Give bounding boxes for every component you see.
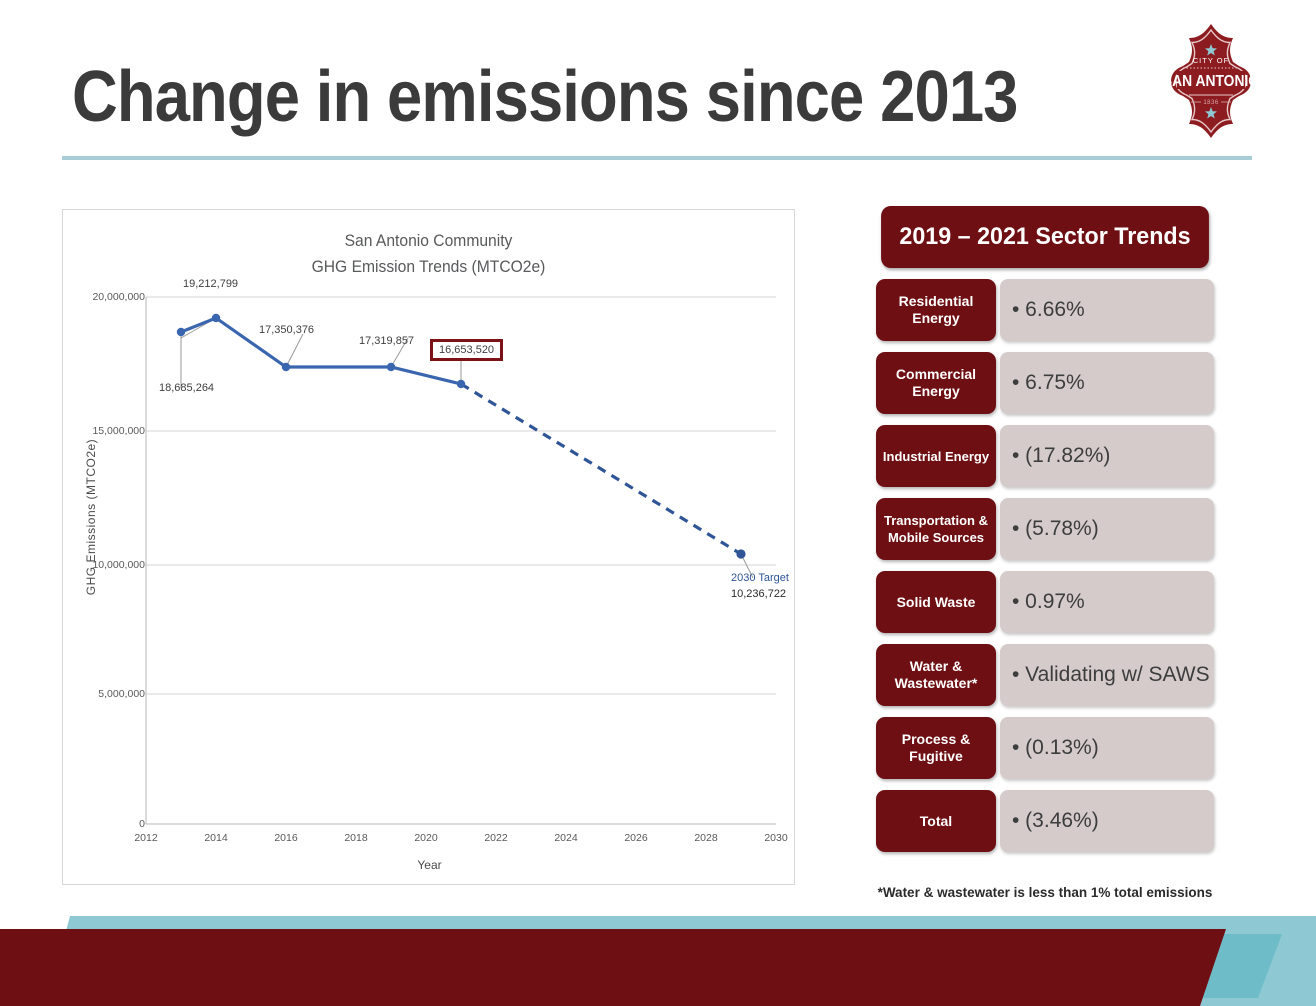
table-row: Process &Fugitive • (0.13%) (876, 717, 1214, 779)
title-divider (62, 156, 1252, 160)
sector-value-residential-energy: • 6.66% (1000, 279, 1214, 341)
label-line1: Water & (910, 658, 962, 674)
chart-canvas (63, 210, 796, 886)
highlight-callout-2021: 16,653,520 (430, 339, 503, 361)
footer-svg (0, 896, 1316, 1006)
data-point-2013 (177, 328, 185, 336)
sector-label-residential-energy: ResidentialEnergy (876, 279, 996, 341)
sector-value-industrial-energy: • (17.82%) (1000, 425, 1214, 487)
chart-plot-area: GHG Emissions (MTCO2e) Year 20,000,000 1… (63, 210, 796, 886)
leader-2016 (286, 334, 303, 367)
table-row: Transportation &Mobile Sources • (5.78%) (876, 498, 1214, 560)
data-label-2014: 19,212,799 (183, 278, 238, 290)
sector-label-total: Total (876, 790, 996, 852)
sector-label-industrial-energy: Industrial Energy (876, 425, 996, 487)
data-point-2014 (212, 314, 220, 322)
sector-value-total: • (3.46%) (1000, 790, 1214, 852)
sector-value-solid-waste: • 0.97% (1000, 571, 1214, 633)
sector-trends-heading: 2019 – 2021 Sector Trends (881, 206, 1209, 268)
data-point-2016 (282, 363, 290, 371)
label-line2: Mobile Sources (888, 530, 984, 545)
table-row: Water &Wastewater* • Validating w/ SAWS (876, 644, 1214, 706)
sector-label-process-fugitive: Process &Fugitive (876, 717, 996, 779)
series-historical (181, 318, 461, 384)
table-row: Industrial Energy • (17.82%) (876, 425, 1214, 487)
footer-decoration (0, 896, 1316, 1006)
label-line2: Fugitive (909, 748, 963, 764)
label-line1: Transportation & (884, 513, 988, 528)
sector-label-transportation-mobile-sources: Transportation &Mobile Sources (876, 498, 996, 560)
data-point-2019 (387, 363, 395, 371)
page-title: Change in emissions since 2013 (72, 56, 1018, 138)
table-row: ResidentialEnergy • 6.66% (876, 279, 1214, 341)
sector-label-solid-waste: Solid Waste (876, 571, 996, 633)
data-label-2016: 17,350,376 (259, 324, 314, 336)
footer-red-bar (0, 929, 1226, 1006)
sector-value-transportation-mobile-sources: • (5.78%) (1000, 498, 1214, 560)
sector-value-process-fugitive: • (0.13%) (1000, 717, 1214, 779)
series-projection (461, 384, 741, 554)
table-row: CommercialEnergy • 6.75% (876, 352, 1214, 414)
sector-value-water-wastewater: • Validating w/ SAWS (1000, 644, 1214, 706)
sector-trends-table: 2019 – 2021 Sector Trends ResidentialEne… (876, 206, 1214, 852)
target-value-2030: 10,236,722 (731, 588, 786, 600)
data-label-2013: 18,685,264 (159, 382, 214, 394)
sector-label-commercial-energy: CommercialEnergy (876, 352, 996, 414)
logo-line1: CITY OF (1193, 56, 1229, 65)
label-line2: Energy (912, 383, 959, 399)
slide: Change in emissions since 2013 CITY OF S… (0, 0, 1316, 1006)
target-label-2030: 2030 Target (731, 572, 789, 584)
label-line1: Commercial (896, 366, 976, 382)
label-line1: Process & (902, 731, 970, 747)
data-point-2021 (457, 380, 465, 388)
table-row: Solid Waste • 0.97% (876, 571, 1214, 633)
label-line1: Residential (899, 293, 974, 309)
ghg-emissions-chart: San Antonio Community GHG Emission Trend… (62, 209, 795, 885)
data-point-2030-target (736, 549, 745, 558)
table-row: Total • (3.46%) (876, 790, 1214, 852)
label-line2: Energy (912, 310, 959, 326)
label-line2: Wastewater* (895, 675, 978, 691)
logo-line3: 1836 (1203, 100, 1219, 106)
sector-value-commercial-energy: • 6.75% (1000, 352, 1214, 414)
logo-line2: SAN ANTONIO (1163, 73, 1259, 90)
logo-svg: CITY OF SAN ANTONIO 1836 (1161, 22, 1261, 140)
data-label-2019: 17,319,857 (359, 335, 414, 347)
sector-label-water-wastewater: Water &Wastewater* (876, 644, 996, 706)
city-of-san-antonio-logo: CITY OF SAN ANTONIO 1836 (1161, 22, 1261, 140)
